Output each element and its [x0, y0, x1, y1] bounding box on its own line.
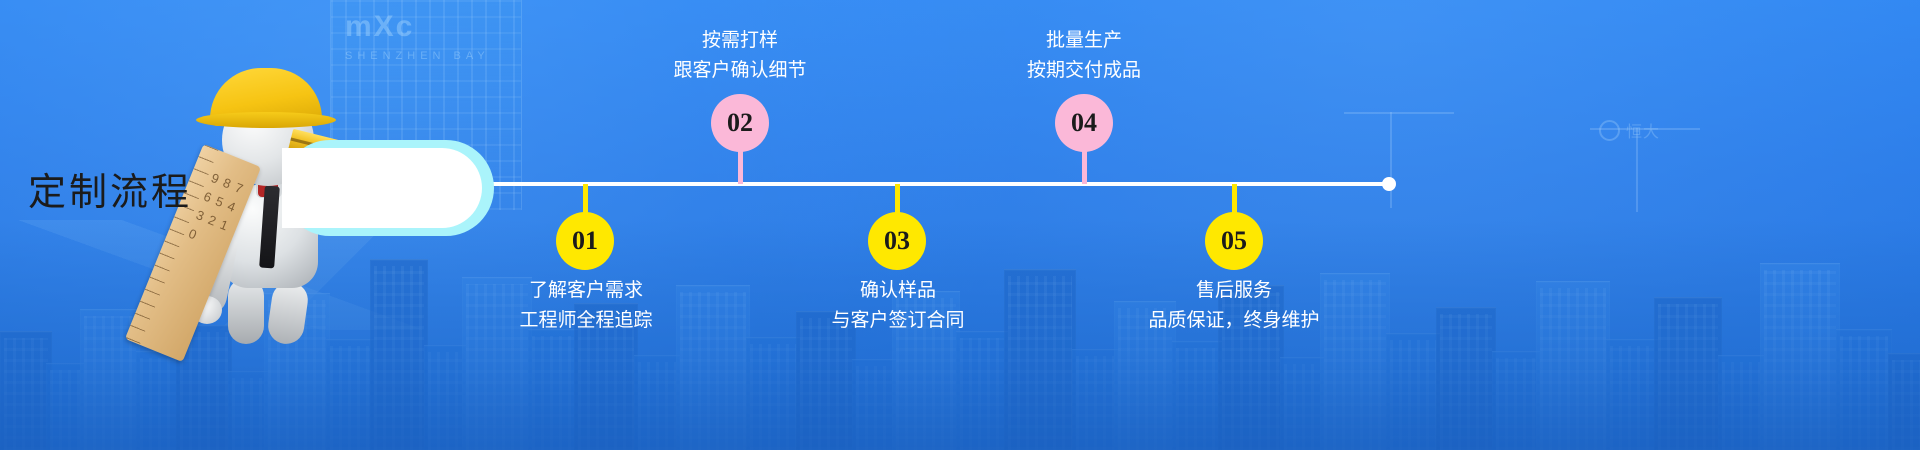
watermark-dot-icon	[1599, 120, 1620, 141]
step-05-label-line-1: 售后服务	[1114, 276, 1354, 306]
custom-process-banner: mXc SHENZHEN BAY 恒大 9 8 7 6 5 4 3 2 1 0	[0, 0, 1920, 450]
step-02-label-line-1: 按需打样	[620, 26, 860, 56]
step-04-badge[interactable]: 04	[1055, 94, 1113, 152]
watermark-text: 恒大	[1626, 118, 1660, 142]
watermark: 恒大	[1599, 118, 1660, 142]
step-04-label-line-2: 按期交付成品	[964, 56, 1204, 86]
step-03-label-line-1: 确认样品	[778, 276, 1018, 306]
mascot-leg-right	[266, 280, 310, 346]
step-01-label: 了解客户需求 工程师全程追踪	[466, 276, 706, 336]
step-04-label: 批量生产 按期交付成品	[964, 26, 1204, 86]
step-02-badge[interactable]: 02	[711, 94, 769, 152]
step-01-label-line-2: 工程师全程追踪	[466, 306, 706, 336]
timeline-end-dot	[1382, 177, 1396, 191]
step-03-badge[interactable]: 03	[868, 212, 926, 270]
step-05-badge[interactable]: 05	[1205, 212, 1263, 270]
step-02-stem	[738, 150, 743, 184]
step-01-label-line-1: 了解客户需求	[466, 276, 706, 306]
step-03-label: 确认样品 与客户签订合同	[778, 276, 1018, 336]
step-02-label-line-2: 跟客户确认细节	[620, 56, 860, 86]
background-logo-text: mXc	[345, 10, 414, 43]
step-03-label-line-2: 与客户签订合同	[778, 306, 1018, 336]
background-logo: mXc SHENZHEN BAY	[345, 10, 490, 62]
step-05-label: 售后服务 品质保证，终身维护	[1114, 276, 1354, 336]
timeline-track	[470, 182, 1390, 186]
crane-icon-left	[1390, 112, 1392, 208]
hard-hat-brim-icon	[196, 112, 336, 128]
process-title-chip-inner	[282, 148, 482, 228]
step-01-badge[interactable]: 01	[556, 212, 614, 270]
page-title: 定制流程	[10, 140, 210, 236]
step-04-stem	[1082, 150, 1087, 184]
process-title-chip	[282, 140, 494, 236]
step-05-label-line-2: 品质保证，终身维护	[1114, 306, 1354, 336]
step-02-label: 按需打样 跟客户确认细节	[620, 26, 860, 86]
step-04-label-line-1: 批量生产	[964, 26, 1204, 56]
